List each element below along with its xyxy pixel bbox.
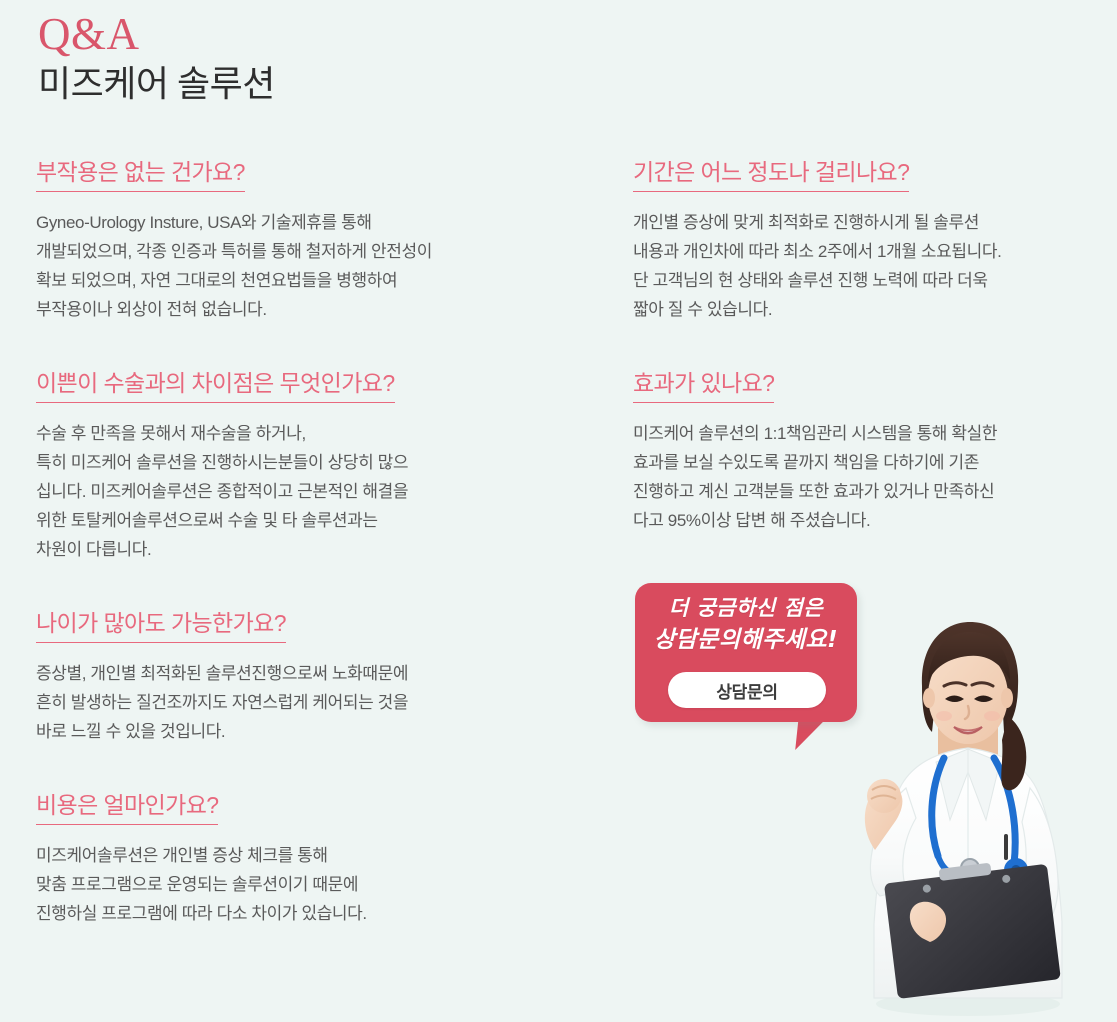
- qa-question[interactable]: 이쁜이 수술과의 차이점은 무엇인가요?: [36, 366, 395, 403]
- qa-question[interactable]: 효과가 있나요?: [633, 366, 774, 403]
- qa-item: 이쁜이 수술과의 차이점은 무엇인가요? 수술 후 만족을 못해서 재수술을 하…: [36, 366, 536, 564]
- qa-item: 기간은 어느 정도나 걸리나요? 개인별 증상에 맞게 최적화로 진행하시게 될…: [633, 155, 1093, 324]
- qa-item: 부작용은 없는 건가요? Gyneo-Urology Insture, USA와…: [36, 155, 536, 324]
- page-header: Q&A 미즈케어 솔루션: [38, 8, 638, 106]
- qa-page: Q&A 미즈케어 솔루션 부작용은 없는 건가요? Gyneo-Urology …: [0, 0, 1117, 1022]
- qa-item: 비용은 얼마인가요? 미즈케어솔루션은 개인별 증상 체크를 통해 맞춤 프로그…: [36, 788, 536, 928]
- qa-answer: Gyneo-Urology Insture, USA와 기술제휴를 통해 개발되…: [36, 208, 536, 324]
- qa-answer: 수술 후 만족을 못해서 재수술을 하거나, 특히 미즈케어 솔루션을 진행하시…: [36, 419, 536, 564]
- qa-question[interactable]: 부작용은 없는 건가요?: [36, 155, 245, 192]
- qa-item: 효과가 있나요? 미즈케어 솔루션의 1:1책임관리 시스템을 통해 확실한 효…: [633, 366, 1093, 535]
- qa-item: 나이가 많아도 가능한가요? 증상별, 개인별 최적화된 솔루션진행으로써 노화…: [36, 606, 536, 746]
- qa-column-right: 기간은 어느 정도나 걸리나요? 개인별 증상에 맞게 최적화로 진행하시게 될…: [633, 155, 1093, 577]
- doctor-photo: [818, 612, 1117, 1022]
- consult-inquiry-button[interactable]: 상담문의: [668, 672, 826, 708]
- qa-question[interactable]: 기간은 어느 정도나 걸리나요?: [633, 155, 909, 192]
- qa-answer: 미즈케어솔루션은 개인별 증상 체크를 통해 맞춤 프로그램으로 운영되는 솔루…: [36, 841, 536, 928]
- qa-column-left: 부작용은 없는 건가요? Gyneo-Urology Insture, USA와…: [36, 155, 536, 970]
- qa-answer: 미즈케어 솔루션의 1:1책임관리 시스템을 통해 확실한 효과를 보실 수있도…: [633, 419, 1093, 535]
- page-title: Q&A: [38, 8, 638, 60]
- qa-question[interactable]: 비용은 얼마인가요?: [36, 788, 218, 825]
- qa-answer: 개인별 증상에 맞게 최적화로 진행하시게 될 솔루션 내용과 개인차에 따라 …: [633, 208, 1093, 324]
- qa-question[interactable]: 나이가 많아도 가능한가요?: [36, 606, 286, 643]
- qa-answer: 증상별, 개인별 최적화된 솔루션진행으로써 노화때문에 흔히 발생하는 질건조…: [36, 659, 536, 746]
- page-subtitle: 미즈케어 솔루션: [38, 62, 638, 106]
